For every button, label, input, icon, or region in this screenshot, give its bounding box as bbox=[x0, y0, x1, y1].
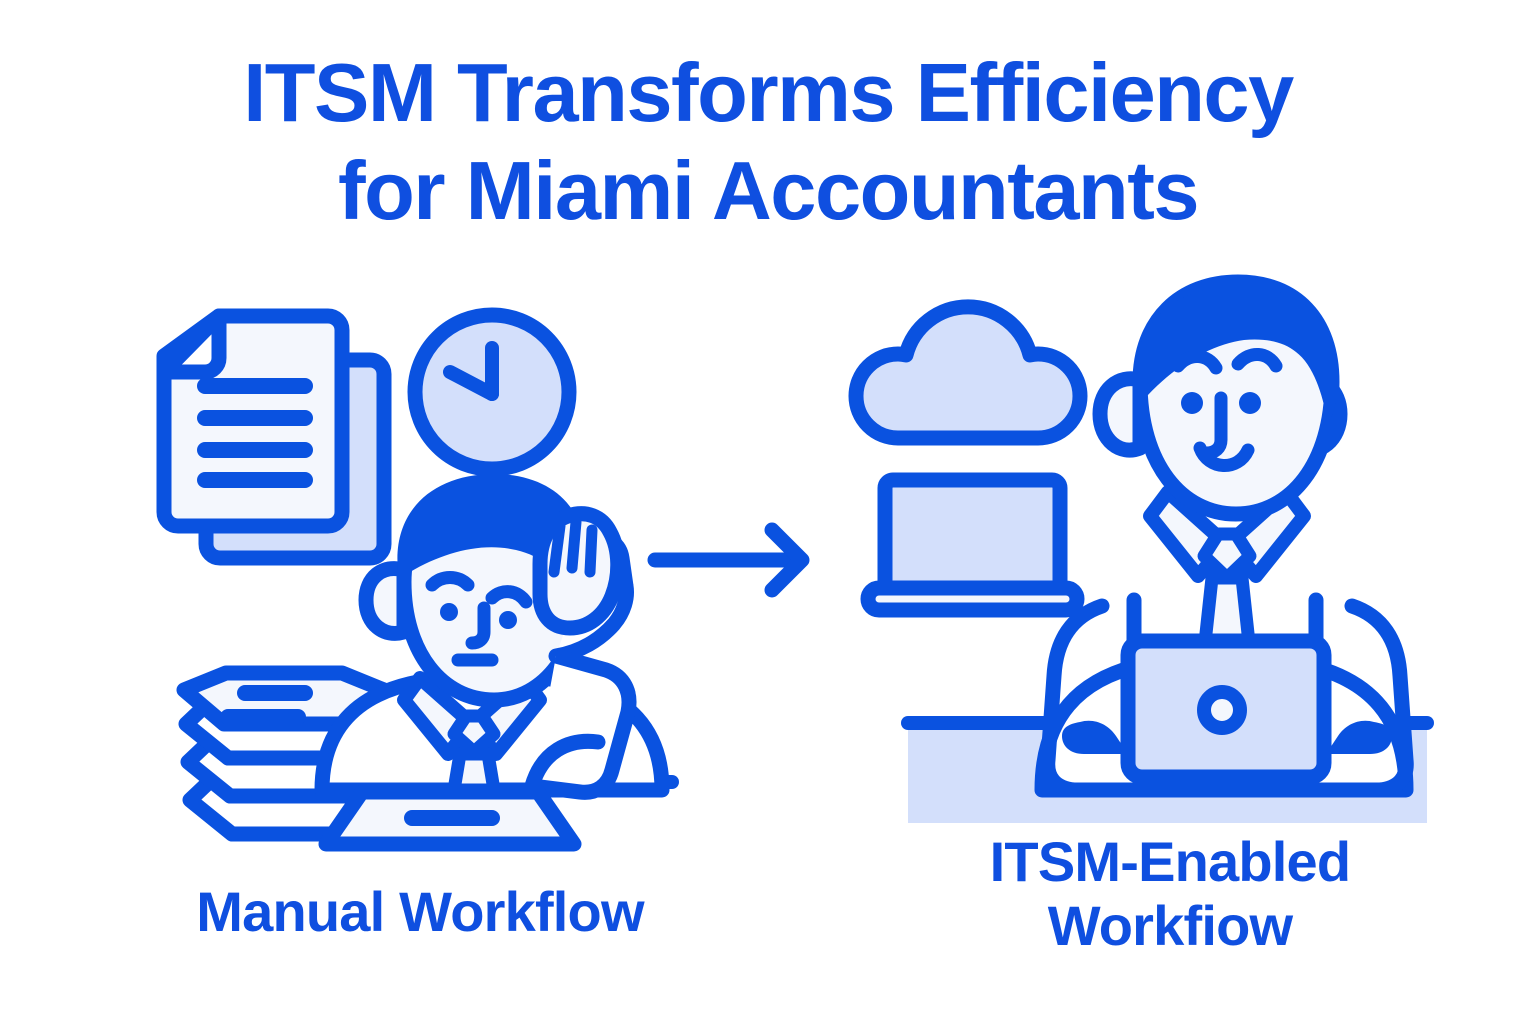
manual-workflow-group bbox=[164, 315, 672, 844]
illustration-canvas: ITSM Transforms Efficiency for Miami Acc… bbox=[0, 0, 1536, 1024]
caption-manual-workflow-text: Manual Workflow bbox=[196, 880, 643, 943]
open-laptop-icon bbox=[326, 792, 574, 844]
cloud-icon bbox=[856, 307, 1080, 438]
closed-laptop-icon bbox=[1128, 641, 1324, 777]
laptop-icon bbox=[868, 480, 1077, 610]
clock-icon bbox=[415, 315, 569, 469]
right-arrow bbox=[655, 530, 802, 590]
laptop-logo bbox=[1204, 692, 1240, 728]
caption-itsm-line-1: ITSM-Enabled bbox=[900, 830, 1440, 894]
caption-itsm-workflow: ITSM-Enabled Workfiow bbox=[900, 830, 1440, 958]
documents-icon bbox=[164, 316, 384, 558]
itsm-workflow-group bbox=[856, 282, 1427, 823]
caption-itsm-line-2: Workfiow bbox=[900, 894, 1440, 958]
caption-manual-workflow: Manual Workflow bbox=[90, 880, 750, 944]
